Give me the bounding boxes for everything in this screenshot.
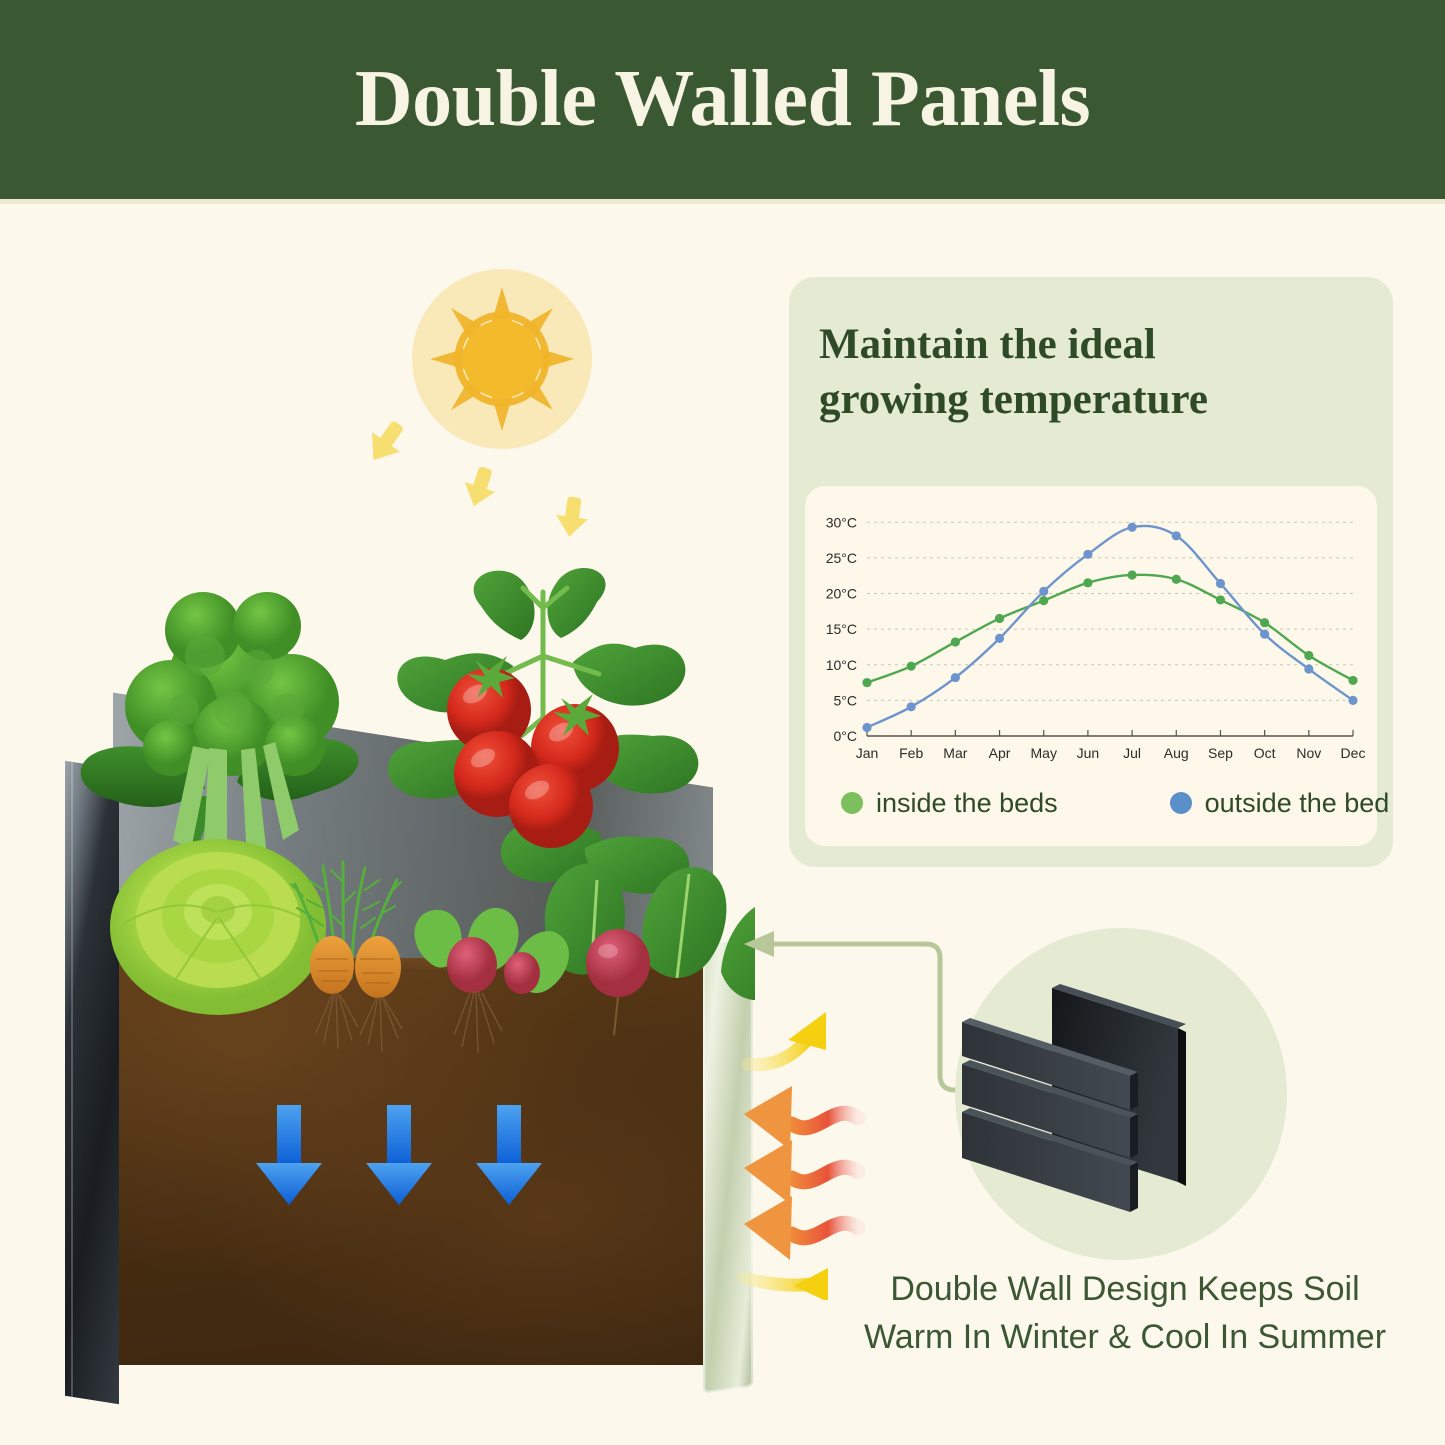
panel-caption-line1: Double Wall Design Keeps Soil xyxy=(830,1265,1420,1313)
chart-series-group xyxy=(862,523,1357,732)
chart-point[interactable] xyxy=(907,662,916,671)
product-infographic: Double Walled Panels xyxy=(0,0,1445,1445)
chart-point[interactable] xyxy=(1260,630,1269,639)
chart-line-outside-the-bed xyxy=(867,526,1353,728)
chart-legend: inside the beds outside the bed xyxy=(805,772,1377,834)
page-header: Double Walled Panels xyxy=(0,0,1445,199)
chart-point[interactable] xyxy=(951,673,960,682)
warm-wave-arrow-icon xyxy=(744,1086,858,1150)
chart-point[interactable] xyxy=(1083,550,1092,559)
tomato-plant xyxy=(388,568,698,894)
chart-point[interactable] xyxy=(1172,575,1181,584)
svg-text:Jul: Jul xyxy=(1123,745,1141,761)
broccoli-plant xyxy=(81,592,359,862)
root-hairs xyxy=(316,993,402,1051)
root-vegetables xyxy=(110,915,720,1095)
chart-point[interactable] xyxy=(951,637,960,646)
legend-dot-blue-icon xyxy=(1170,792,1192,814)
warm-wave-arrow-icon xyxy=(744,1140,858,1204)
chart-point[interactable] xyxy=(1304,651,1313,660)
temperature-chart-card: 0°C5°C10°C15°C20°C25°C30°C JanFebMarAprM… xyxy=(805,486,1377,846)
chart-point[interactable] xyxy=(1039,596,1048,605)
chart-y-tick-labels: 0°C5°C10°C15°C20°C25°C30°C xyxy=(826,514,857,744)
chart-point[interactable] xyxy=(1260,618,1269,627)
sun-illustration xyxy=(350,262,650,552)
chart-x-tick-labels: JanFebMarAprMayJunJulAugSepOctNovDec xyxy=(856,745,1366,761)
svg-text:20°C: 20°C xyxy=(826,586,857,602)
header-divider xyxy=(0,199,1445,204)
chart-point[interactable] xyxy=(862,723,871,732)
beet-root xyxy=(586,929,650,1035)
legend-dot-green-icon xyxy=(841,792,863,814)
chart-point[interactable] xyxy=(862,678,871,687)
svg-text:Sep: Sep xyxy=(1208,745,1233,761)
temperature-card-title-line2: growing temperature xyxy=(819,372,1359,427)
temperature-card-title: Maintain the ideal growing temperature xyxy=(819,317,1359,427)
legend-item-outside[interactable]: outside the bed xyxy=(1170,788,1390,819)
svg-text:Dec: Dec xyxy=(1341,745,1366,761)
chart-point[interactable] xyxy=(1216,595,1225,604)
soil-heat-down-arrows xyxy=(255,1105,555,1235)
warm-wave-arrow-icon xyxy=(744,1196,858,1260)
chart-point[interactable] xyxy=(1348,696,1357,705)
down-arrow-icon xyxy=(256,1105,542,1205)
chart-point[interactable] xyxy=(1127,570,1136,579)
yellow-arrow-up-icon xyxy=(748,1012,826,1065)
chart-point[interactable] xyxy=(1216,579,1225,588)
chart-point[interactable] xyxy=(995,614,1004,623)
chart-point[interactable] xyxy=(1172,531,1181,540)
svg-text:10°C: 10°C xyxy=(826,657,857,673)
svg-text:Nov: Nov xyxy=(1296,745,1321,761)
svg-text:Oct: Oct xyxy=(1254,745,1276,761)
chart-point[interactable] xyxy=(1304,664,1313,673)
chart-point[interactable] xyxy=(1039,587,1048,596)
svg-text:Mar: Mar xyxy=(943,745,967,761)
chart-x-axis xyxy=(867,730,1353,736)
chart-point[interactable] xyxy=(995,634,1004,643)
svg-text:Apr: Apr xyxy=(989,745,1011,761)
carrot-root xyxy=(310,936,402,1051)
raised-garden-bed xyxy=(55,560,755,1380)
sun-icon xyxy=(430,287,574,431)
chart-point[interactable] xyxy=(1348,676,1357,685)
double-wall-panel-illustration xyxy=(940,950,1310,1250)
temperature-card-title-line1: Maintain the ideal xyxy=(819,317,1359,372)
chart-gridlines xyxy=(867,522,1353,700)
panel-caption: Double Wall Design Keeps Soil Warm In Wi… xyxy=(830,1265,1420,1362)
chart-point[interactable] xyxy=(1083,578,1092,587)
chart-point[interactable] xyxy=(1127,523,1136,532)
svg-text:15°C: 15°C xyxy=(826,621,857,637)
svg-text:Jun: Jun xyxy=(1077,745,1100,761)
svg-text:Jan: Jan xyxy=(856,745,879,761)
legend-item-inside[interactable]: inside the beds xyxy=(841,788,1058,819)
panel-caption-line2: Warm In Winter & Cool In Summer xyxy=(830,1313,1420,1361)
svg-text:Feb: Feb xyxy=(899,745,923,761)
radish-root xyxy=(447,937,540,1053)
svg-text:5°C: 5°C xyxy=(834,692,858,708)
temperature-card: Maintain the ideal growing temperature 0… xyxy=(789,277,1393,867)
svg-text:30°C: 30°C xyxy=(826,514,857,530)
svg-text:25°C: 25°C xyxy=(826,550,857,566)
legend-label-inside: inside the beds xyxy=(876,788,1058,819)
connector-arrowhead-icon xyxy=(744,931,774,957)
svg-text:May: May xyxy=(1031,745,1057,761)
svg-text:Aug: Aug xyxy=(1164,745,1189,761)
page-title: Double Walled Panels xyxy=(355,54,1090,145)
chart-point[interactable] xyxy=(907,702,916,711)
legend-label-outside: outside the bed xyxy=(1205,788,1390,819)
temperature-line-chart: 0°C5°C10°C15°C20°C25°C30°C JanFebMarAprM… xyxy=(805,486,1377,776)
svg-text:0°C: 0°C xyxy=(834,728,858,744)
yellow-arrow-right-icon xyxy=(744,1268,828,1300)
